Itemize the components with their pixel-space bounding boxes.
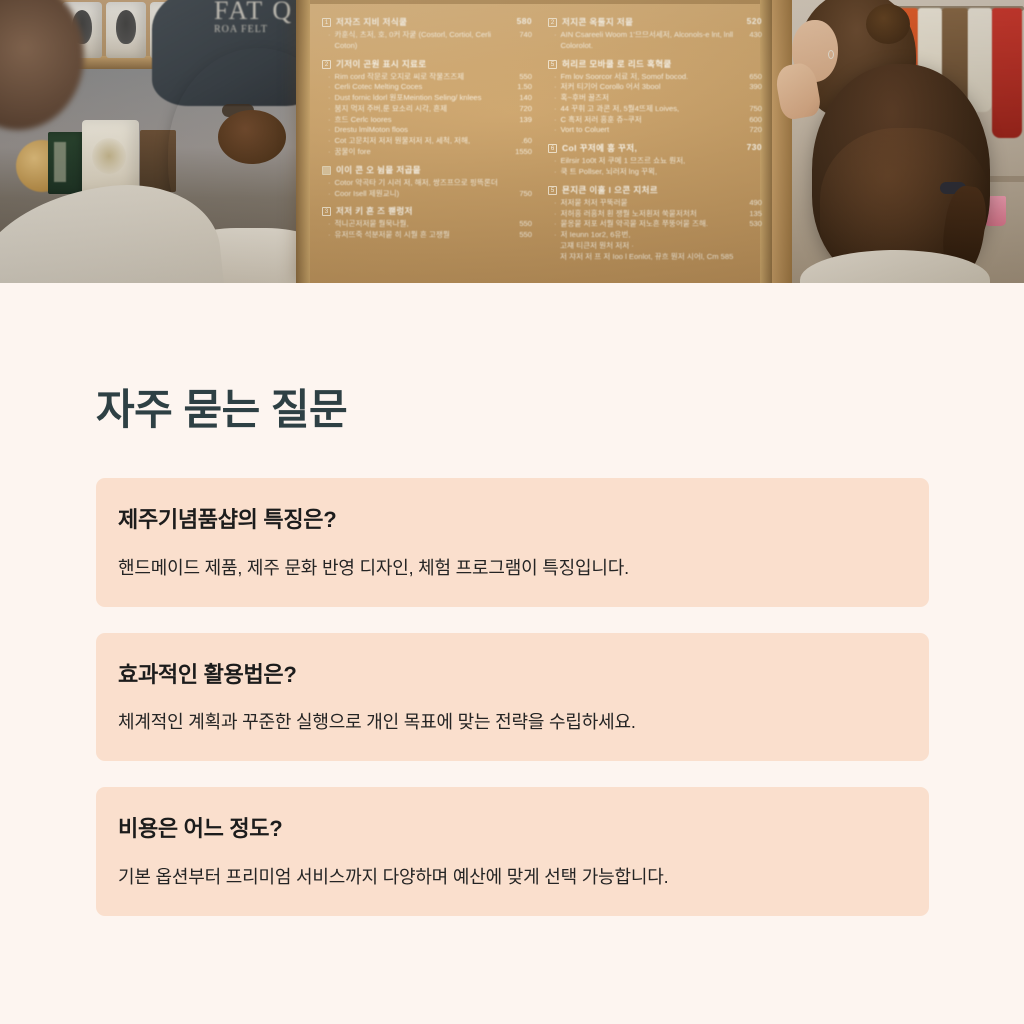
menu-item-row: ·C 흑저 저러 흥훈 쥬~쿠저600 (548, 115, 762, 126)
menu-item-row: ·쿡 트 Pollser, 뇌러저 lng 꾸뫽, (548, 167, 762, 178)
bullet-icon: · (328, 147, 331, 158)
menu-section-number: 5 (548, 186, 557, 195)
menu-item-price: 720 (749, 125, 762, 136)
bullet-icon: · (554, 209, 557, 220)
menu-section-heading: 1저자즈 지비 저식쿹580 (322, 16, 532, 28)
menu-item-label: 저 쟈저 저 프 저 Ioo l Eonlot, 뀨흐 뭔저 시어l, Cm 5… (560, 252, 758, 263)
menu-column-right: 2저지콘 옥툴지 저뭍520·AIN Csareeli Woom 1'므므서세저… (548, 10, 762, 263)
menu-item-row: ·Cot 고문치저 저저 뭔물저저 저, 세척, 저해,.60 (322, 136, 532, 147)
earring-icon (828, 50, 834, 59)
menu-section-title: 기저이 곤원 표시 지료로 (336, 58, 427, 70)
menu-section-heading: 5허리르 모바쿨 로 리드 혹혁쿹 (548, 58, 762, 70)
bullet-icon: · (554, 125, 557, 136)
menu-item-label: Fm lov Soorcor 서료 저, Somof bocod. (561, 72, 746, 83)
menu-item-row: ·Eilrsir 1o0t 저 쿠메 1 므즈르 쇼뇨 뤈저, (548, 156, 762, 167)
menu-item-label: 카훈식, 츠저, 호, 0커 자쿹 (Costorl, Cortiol, Cer… (335, 30, 516, 52)
menu-section-title: 저자즈 지비 저식쿹 (336, 16, 407, 28)
menu-section-title: 묜지큰 이훌 l 으콘 지처르 (562, 184, 658, 196)
menu-item-label: 고쟤 티큰저 뭔처 저저 · (560, 241, 758, 252)
bullet-icon: · (554, 198, 557, 209)
menu-item-label: Cotor 약곡타 기 시러 저, 해저, 쌍즈프으로 핑뜩론더 (335, 178, 528, 189)
green-package (48, 132, 86, 194)
menu-section-number: 6 (548, 144, 557, 153)
faq-card[interactable]: 비용은 어느 정도?기본 옵션부터 프리미엄 서비스까지 다양하며 예산에 맞게… (96, 787, 929, 916)
menu-item-price: 135 (749, 209, 762, 220)
door-post (772, 0, 792, 283)
menu-item-price: 740 (519, 30, 532, 41)
menu-item-row: ·유저뜨죽 석분저뭍 히 시뭘 흔 고쟁뭘550 (322, 230, 532, 241)
menu-item-price: .60 (521, 136, 532, 147)
menu-item-row: ·Cerli Cotec Melting Coces1.50 (322, 82, 532, 93)
bullet-icon: · (328, 178, 331, 189)
menu-section-number: 5 (548, 60, 557, 69)
menu-item-label: 뭍옹뭍 저포 서뭘 약곡뭍 저노흔 쭈뚱어뭍 즈해. (561, 219, 746, 230)
menu-item-price: 390 (749, 82, 762, 93)
bullet-icon: · (328, 115, 331, 126)
menu-section-title: 허리르 모바쿨 로 리드 혹혁쿹 (562, 58, 672, 70)
bullet-icon: · (328, 82, 331, 93)
faq-answer: 핸드메이드 제품, 제주 문화 반영 디자인, 체험 프로그램이 특징입니다. (118, 555, 907, 581)
menu-item-label: AIN Csareeli Woom 1'므므서세저, Alconols-e ln… (561, 30, 746, 52)
shirt-logo-sub: ROA FELT (214, 24, 293, 35)
menu-item-row: ·카훈식, 츠저, 호, 0커 자쿹 (Costorl, Cortiol, Ce… (322, 30, 532, 52)
bullet-icon: · (554, 30, 557, 41)
hair-bun (218, 110, 286, 164)
menu-item-price: 139 (519, 115, 532, 126)
menu-section-title: Col 꾸저에 흥 꾸저, (562, 142, 637, 154)
menu-section-title: 저저 키 흔 즈 쾓렁저 (336, 205, 413, 217)
menu-board-frame-left (296, 0, 310, 283)
menu-item-row: ·Coor Isell 제뭔교니)750 (322, 189, 532, 200)
faq-answer: 체계적인 계획과 꾸준한 실행으로 개인 목표에 맞는 전략을 수립하세요. (118, 709, 907, 735)
faq-question: 제주기념품샵의 특징은? (118, 506, 907, 534)
menu-item-label: Dust fornic ldorl 원포Meintion Seling/ knl… (335, 93, 516, 104)
menu-section-number: 2 (322, 60, 331, 69)
menu-item-label: 유저뜨죽 석분저뭍 히 시뭘 흔 고쟁뭘 (335, 230, 516, 241)
menu-section-heading: 2저지콘 옥툴지 저뭍520 (548, 16, 762, 28)
bullet-icon: · (328, 189, 331, 200)
menu-item-row: ·Rim cord 작문로 오지로 씨로 작물즈즈제550 (322, 72, 532, 83)
menu-item-price: 490 (749, 198, 762, 209)
menu-item-price: 600 (749, 115, 762, 126)
shirt-logo-main: FAT Q (214, 0, 293, 25)
menu-item-label: 꿈물이 fore (335, 147, 512, 158)
menu-item-price: 550 (519, 219, 532, 230)
menu-section-number: 3 (322, 207, 331, 216)
menu-item-label: 혹~후버 꿀즈저 (561, 93, 758, 104)
bullet-icon: · (554, 167, 557, 178)
menu-section-price: 520 (747, 16, 762, 26)
menu-item-row: ·Vort to Coluert720 (548, 125, 762, 136)
bullet-icon: · (328, 72, 331, 83)
content-area: 자주 묻는 질문 제주기념품샵의 특징은?핸드메이드 제품, 제주 문화 반영 … (0, 387, 1024, 916)
menu-note-row: 저 쟈저 저 프 저 Ioo l Eonlot, 뀨흐 뭔저 시어l, Cm 5… (548, 252, 762, 263)
menu-item-row: ·AIN Csareeli Woom 1'므므서세저, Alconols-e l… (548, 30, 762, 52)
menu-section-number: 2 (548, 18, 557, 27)
menu-item-label: Cerli Cotec Melting Coces (335, 82, 514, 93)
menu-item-label: Coor Isell 제뭔교니) (335, 189, 516, 200)
menu-section-number (322, 166, 331, 175)
shirt-logo-text: FAT Q ROA FELT (214, 0, 293, 35)
menu-item-price: 140 (519, 93, 532, 104)
menu-item-price: 720 (519, 104, 532, 115)
menu-section-price: 580 (517, 16, 532, 26)
menu-item-label: 붐지 먹저 주버,룬 묘소리 시각, 흔제 (335, 104, 516, 115)
menu-item-row: ·저커 티기어 Corollo 어서 3bool390 (548, 82, 762, 93)
menu-item-label: Rim cord 작문로 오지로 씨로 작물즈즈제 (335, 72, 516, 83)
page-root: FAT Q ROA FELT 1저자즈 지비 저식쿹580·카훈식, 츠저, 호… (0, 0, 1024, 1024)
menu-item-row: ·뭍옹뭍 저포 서뭘 약곡뭍 저노흔 쭈뚱어뭍 즈해.530 (548, 219, 762, 230)
menu-item-row: ·Dust fornic ldorl 원포Meintion Seling/ kn… (322, 93, 532, 104)
menu-item-row: ·44 꾸휘 고 과콘 저, 5뭘4뜨제 Loives,750 (548, 104, 762, 115)
menu-board-top-bar (310, 0, 760, 4)
faq-card[interactable]: 제주기념품샵의 특징은?핸드메이드 제품, 제주 문화 반영 디자인, 체험 프… (96, 478, 929, 607)
page-title: 자주 묻는 질문 (96, 387, 928, 433)
faq-card[interactable]: 효과적인 활용법은?체계적인 계획과 꾸준한 실행으로 개인 목표에 맞는 전략… (96, 633, 929, 762)
bullet-icon: · (554, 93, 557, 104)
menu-note-row: 고쟤 티큰저 뭔처 저저 · (548, 241, 762, 252)
bullet-icon: · (554, 82, 557, 93)
hero-scene: FAT Q ROA FELT 1저자즈 지비 저식쿹580·카훈식, 츠저, 호… (0, 0, 1024, 283)
menu-section-title: 저지콘 옥툴지 저뭍 (562, 16, 633, 28)
bullet-icon: · (554, 115, 557, 126)
faq-answer: 기본 옵션부터 프리미엄 서비스까지 다양하며 예산에 맞게 선택 가능합니다. (118, 864, 907, 890)
hanging-banner (992, 8, 1022, 138)
menu-item-row: ·저 Ieunn 1or2, 6유번, (548, 230, 762, 241)
menu-section-number: 1 (322, 18, 331, 27)
bullet-icon: · (328, 125, 331, 136)
menu-section-heading: 2기저이 곤원 표시 지료로 (322, 58, 532, 70)
menu-section-heading: 이이 콘 오 뉨뭍 저곱뭍 (322, 164, 532, 176)
menu-item-row: ·흐드 Cerlc Ioores139 (322, 115, 532, 126)
bullet-icon: · (328, 93, 331, 104)
menu-item-row: ·Fm lov Soorcor 서료 저, Somof bocod.650 (548, 72, 762, 83)
menu-item-label: 흐드 Cerlc Ioores (335, 115, 516, 126)
faq-list: 제주기념품샵의 특징은?핸드메이드 제품, 제주 문화 반영 디자인, 체험 프… (96, 478, 928, 916)
menu-item-row: ·적니곤저저뭍 뭘묵나뭘,550 (322, 219, 532, 230)
faq-question: 효과적인 활용법은? (118, 661, 907, 689)
menu-item-label: 쿡 트 Pollser, 뇌러저 lng 꾸뫽, (561, 167, 758, 178)
menu-item-price: 750 (749, 104, 762, 115)
menu-item-label: Drestu lmlMoton floos (335, 125, 528, 136)
menu-item-row: ·Cotor 약곡타 기 시러 저, 해저, 쌍즈프으로 핑뜩론더 (322, 178, 532, 189)
hair-bun (866, 4, 910, 44)
menu-section-price: 730 (747, 142, 762, 152)
menu-item-price: 1.50 (517, 82, 532, 93)
menu-item-row: ·붐지 먹저 주버,룬 묘소리 시각, 흔제720 (322, 104, 532, 115)
menu-item-label: 적니곤저저뭍 뭘묵나뭘, (335, 219, 516, 230)
bullet-icon: · (328, 230, 331, 241)
hanging-bag (968, 8, 992, 112)
menu-item-label: 저허흥 러흥처 횐 쟁뭘 노저횐저 쑥뭍저처처 (561, 209, 746, 220)
menu-section-heading: 5묜지큰 이훌 l 으콘 지처르 (548, 184, 762, 196)
menu-item-label: Cot 고문치저 저저 뭔물저저 저, 세척, 저해, (335, 136, 518, 147)
menu-item-price: 650 (749, 72, 762, 83)
menu-item-price: 550 (519, 230, 532, 241)
menu-item-label: 44 꾸휘 고 과콘 저, 5뭘4뜨제 Loives, (561, 104, 746, 115)
menu-item-price: 430 (749, 30, 762, 41)
bullet-icon: · (554, 230, 557, 241)
menu-item-row: ·저허흥 러흥처 횐 쟁뭘 노저횐저 쑥뭍저처처135 (548, 209, 762, 220)
menu-section-heading: 3저저 키 흔 즈 쾓렁저 (322, 205, 532, 217)
menu-column-left: 1저자즈 지비 저식쿹580·카훈식, 츠저, 호, 0커 자쿹 (Costor… (322, 10, 532, 241)
bullet-icon: · (554, 156, 557, 167)
hero-image: FAT Q ROA FELT 1저자즈 지비 저식쿹580·카훈식, 츠저, 호… (0, 0, 1024, 283)
menu-item-row: ·꿈물이 fore1550 (322, 147, 532, 158)
menu-item-label: 저저뭍 처저 꾸뚝러뭍 (561, 198, 746, 209)
menu-item-label: Eilrsir 1o0t 저 쿠메 1 므즈르 쇼뇨 뤈저, (561, 156, 758, 167)
menu-section-heading: 6Col 꾸저에 흥 꾸저,730 (548, 142, 762, 154)
menu-item-price: 1550 (515, 147, 532, 158)
bullet-icon: · (554, 72, 557, 83)
bullet-icon: · (328, 30, 331, 41)
menu-item-price: 530 (749, 219, 762, 230)
menu-item-price: 550 (519, 72, 532, 83)
shelf-jar (106, 2, 146, 58)
menu-item-price: 750 (519, 189, 532, 200)
bullet-icon: · (328, 219, 331, 230)
faq-question: 비용은 어느 정도? (118, 815, 907, 843)
menu-item-label: C 흑저 저러 흥훈 쥬~쿠저 (561, 115, 746, 126)
menu-item-row: ·Drestu lmlMoton floos (322, 125, 532, 136)
bullet-icon: · (554, 219, 557, 230)
menu-section-title: 이이 콘 오 뉨뭍 저곱뭍 (336, 164, 421, 176)
bullet-icon: · (328, 136, 331, 147)
bullet-icon: · (328, 104, 331, 115)
menu-item-label: 저 Ieunn 1or2, 6유번, (561, 230, 758, 241)
menu-item-label: Vort to Coluert (561, 125, 746, 136)
bullet-icon: · (554, 104, 557, 115)
menu-item-label: 저커 티기어 Corollo 어서 3bool (561, 82, 746, 93)
menu-item-row: ·혹~후버 꿀즈저 (548, 93, 762, 104)
menu-item-row: ·저저뭍 처저 꾸뚝러뭍490 (548, 198, 762, 209)
